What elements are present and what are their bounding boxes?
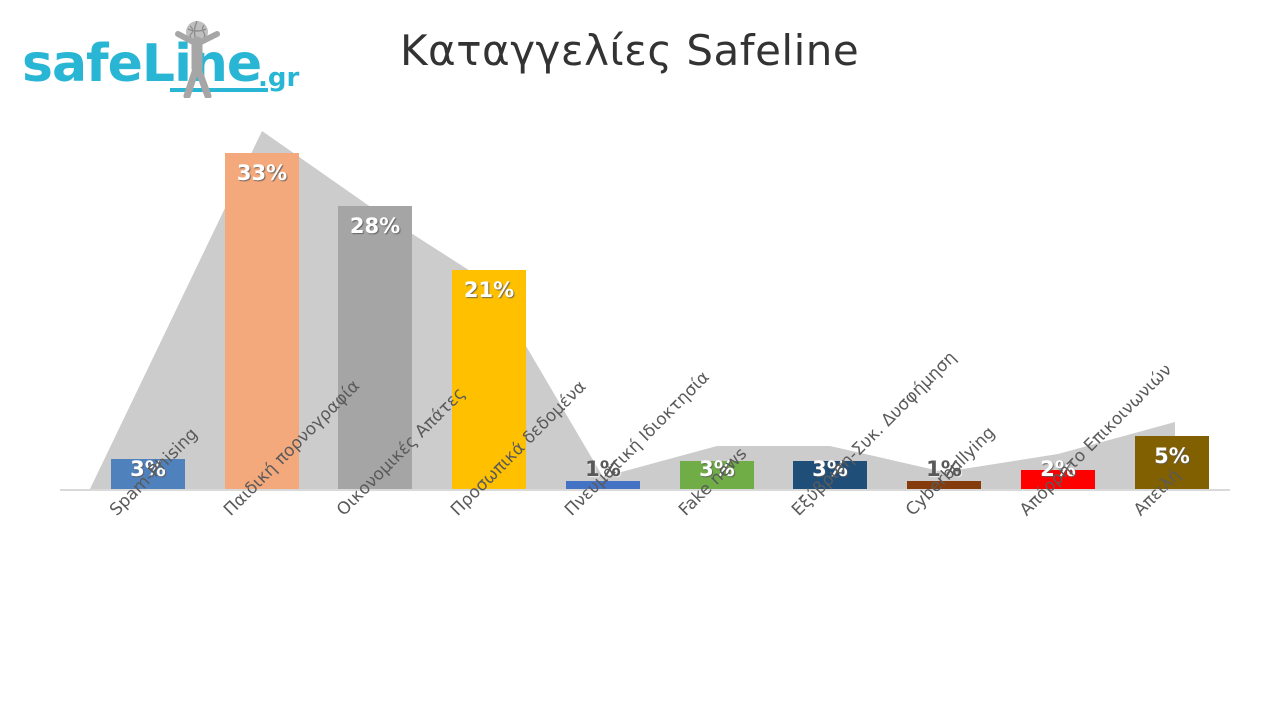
chart-plot-area: 3%Spam-Phising33%Παιδική πορνογραφία28%Ο… [0, 0, 1280, 720]
chart-svg [0, 0, 1280, 720]
